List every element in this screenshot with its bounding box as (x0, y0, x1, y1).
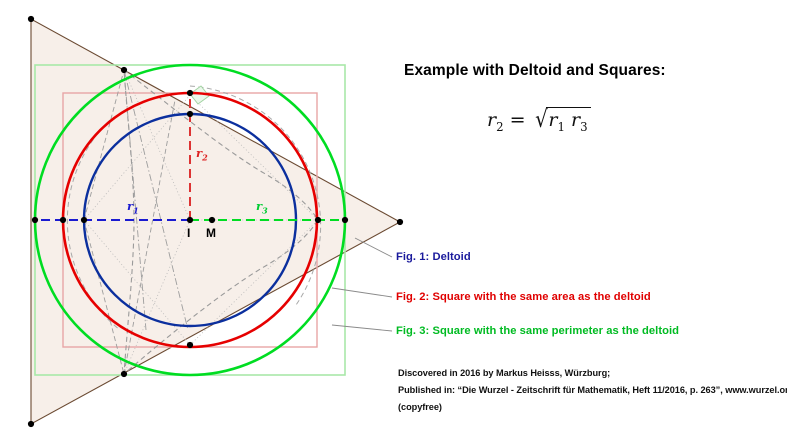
point-red-right (315, 217, 321, 223)
point-I-dot (187, 217, 193, 223)
leader-line-fig2 (332, 288, 392, 297)
formula-radical: √r1 r3 (532, 105, 591, 134)
point-green-right (342, 217, 348, 223)
attribution-line-1: Discovered in 2016 by Markus Heisss, Wür… (398, 368, 610, 378)
triangle-vertex-top (28, 16, 34, 22)
label-r1: r1 (127, 199, 139, 215)
point-green-left (32, 217, 38, 223)
legend-item-fig3: Fig. 3: Square with the same perimeter a… (396, 325, 679, 337)
formula-equals: = (510, 109, 526, 131)
label-r3: r3 (256, 199, 268, 215)
triangle-vertex-right (397, 219, 403, 225)
leader-line-fig3 (332, 325, 392, 331)
deltoid-cusp-bottom (121, 371, 127, 377)
point-red-bottom (187, 342, 193, 348)
attribution-line-3: (copyfree) (398, 402, 442, 412)
point-blue-left (81, 217, 87, 223)
deltoid-cusp-top (121, 67, 127, 73)
point-red-left (60, 217, 66, 223)
point-blue-top (187, 111, 193, 117)
label-r2: r2 (196, 146, 208, 162)
attribution-line-2: Published in: “Die Wurzel - Zeitschrift … (398, 385, 787, 395)
legend-item-fig2: Fig. 2: Square with the same area as the… (396, 291, 651, 303)
page-title: Example with Deltoid and Squares: (404, 62, 666, 80)
formula-r2-equals-sqrt-r1r3: r2 = √r1 r3 (487, 105, 591, 134)
triangle-vertex-bottom (28, 421, 34, 427)
label-point-I: I (187, 226, 190, 240)
point-M-dot (209, 217, 215, 223)
label-point-M: M (206, 226, 216, 240)
legend-item-fig1: Fig. 1: Deltoid (396, 251, 471, 263)
geometry-figure (0, 0, 787, 446)
point-red-top (187, 90, 193, 96)
formula-lhs: r2 (487, 109, 504, 131)
diagram-page: r1 r2 r3 I M Example with Deltoid and Sq… (0, 0, 787, 446)
leader-line-fig1 (355, 238, 392, 257)
